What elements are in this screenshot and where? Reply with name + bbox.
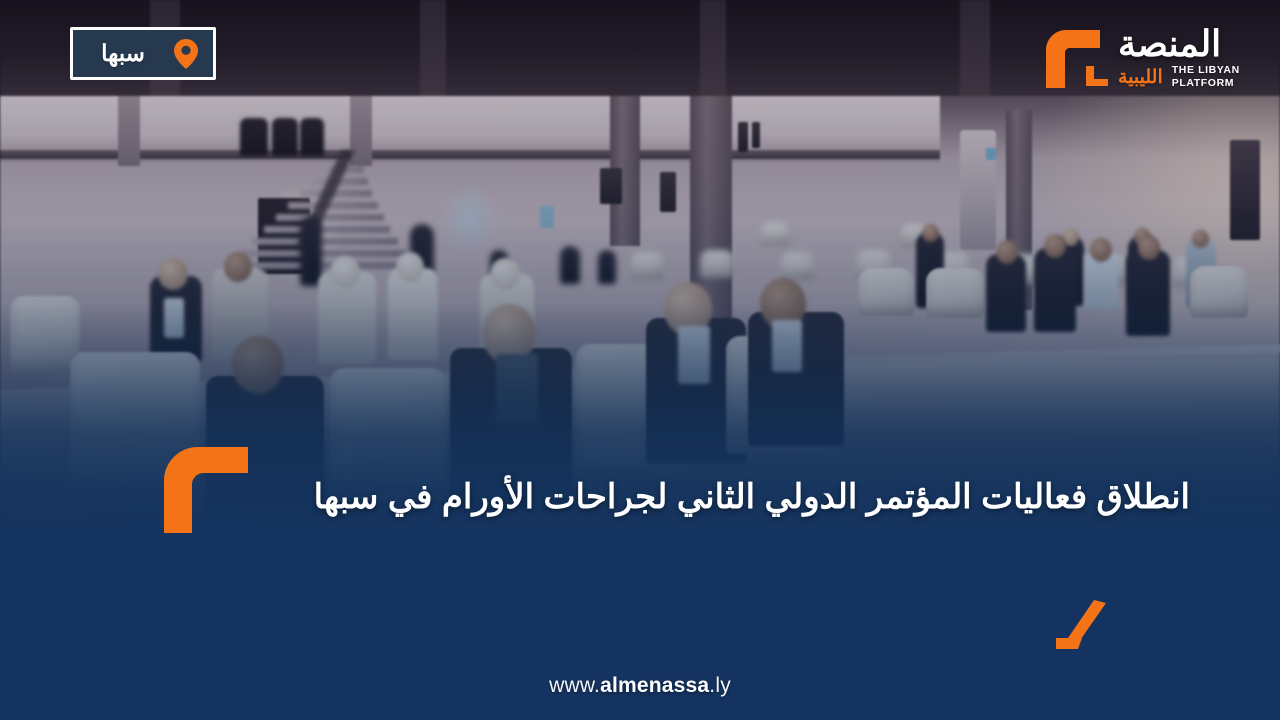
quote-close-mark-icon bbox=[1048, 600, 1110, 655]
url-tld: .ly bbox=[709, 674, 731, 697]
brand-logo[interactable]: المنصة الليبية THE LIBYAN PLATFORM bbox=[1036, 14, 1266, 102]
brand-english-line1: THE LIBYAN bbox=[1172, 64, 1240, 77]
brand-english-name: THE LIBYAN PLATFORM bbox=[1172, 64, 1240, 90]
headline-text: انطلاق فعاليات المؤتمر الدولي الثاني لجر… bbox=[180, 470, 1190, 525]
map-pin-icon bbox=[173, 38, 199, 70]
footer-website-url[interactable]: www.almenassa.ly bbox=[0, 674, 1280, 698]
news-card: سبها المنصة الليبية THE LIBYAN PLATFORM bbox=[0, 0, 1280, 720]
location-label: سبها bbox=[83, 42, 163, 65]
almenassa-logo-mark-icon bbox=[1036, 22, 1112, 94]
url-prefix: www. bbox=[549, 674, 600, 697]
brand-arabic-sub: الليبية bbox=[1118, 68, 1163, 87]
url-name: almenassa bbox=[600, 674, 709, 697]
brand-arabic-name: المنصة bbox=[1118, 26, 1221, 62]
brand-english-line2: PLATFORM bbox=[1172, 77, 1240, 90]
brand-text-group: المنصة الليبية THE LIBYAN PLATFORM bbox=[1118, 26, 1240, 90]
brand-subtitle-row: الليبية THE LIBYAN PLATFORM bbox=[1118, 64, 1240, 90]
headline-block: انطلاق فعاليات المؤتمر الدولي الثاني لجر… bbox=[180, 470, 1190, 525]
location-badge[interactable]: سبها bbox=[70, 27, 216, 80]
